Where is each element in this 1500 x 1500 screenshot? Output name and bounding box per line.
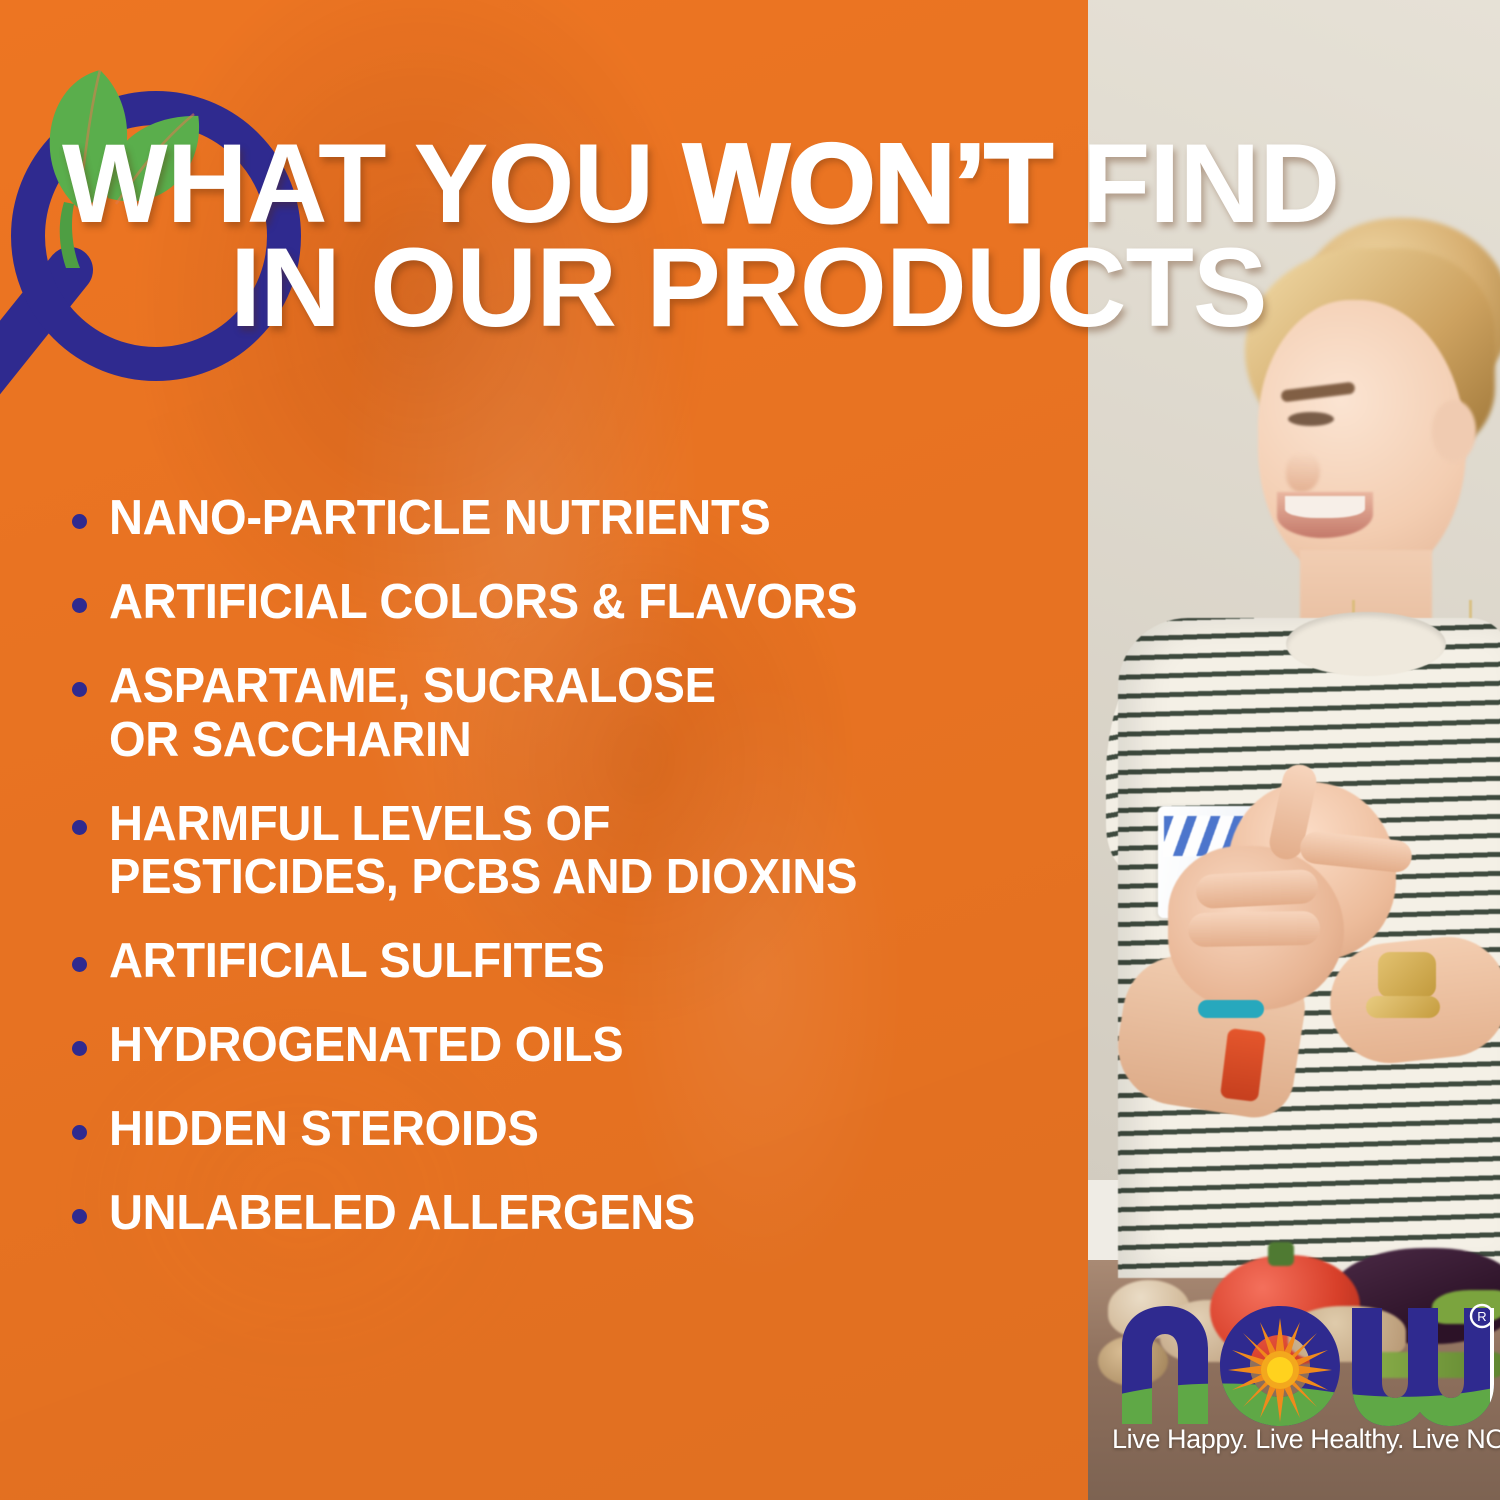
- poster-canvas: WHAT YOU WON’T FIND IN OUR PRODUCTS NANO…: [0, 0, 1500, 1500]
- teal-bracelet: [1198, 1000, 1264, 1018]
- bullet-dot-icon: [72, 820, 87, 835]
- bullet-dot-icon: [72, 682, 87, 697]
- list-item: ASPARTAME, SUCRALOSE OR SACCHARIN: [72, 660, 1082, 768]
- list-item: UNLABELED ALLERGENS: [72, 1187, 1082, 1241]
- wristwatch: [1378, 952, 1436, 998]
- list-item-label: ARTIFICIAL COLORS & FLAVORS: [109, 576, 857, 630]
- shirt-collar: [1286, 612, 1446, 676]
- list-item-label: ARTIFICIAL SULFITES: [109, 935, 604, 989]
- list-item: NANO-PARTICLE NUTRIENTS: [72, 492, 1082, 546]
- list-item-label: UNLABELED ALLERGENS: [109, 1187, 695, 1241]
- finger: [1195, 869, 1319, 909]
- list-item-label: ASPARTAME, SUCRALOSE OR SACCHARIN: [109, 660, 716, 768]
- list-item: HARMFUL LEVELS OF PESTICIDES, PCBS AND D…: [72, 798, 1082, 906]
- bullet-dot-icon: [72, 1041, 87, 1056]
- list-item-label: NANO-PARTICLE NUTRIENTS: [109, 492, 771, 546]
- brand-tagline: Live Happy. Live Healthy. Live NOW.: [1112, 1424, 1482, 1455]
- teeth: [1285, 496, 1365, 518]
- list-item-label: HIDDEN STEROIDS: [109, 1103, 539, 1157]
- pepper-stem: [1268, 1242, 1294, 1266]
- bullet-dot-icon: [72, 1125, 87, 1140]
- eye: [1288, 412, 1334, 426]
- headline-line-1: WHAT YOU WON’T FIND: [62, 132, 1462, 236]
- finger: [1188, 911, 1321, 947]
- gold-bangle: [1366, 996, 1440, 1018]
- list-item: HYDROGENATED OILS: [72, 1019, 1082, 1073]
- ear: [1432, 400, 1476, 462]
- bullet-dot-icon: [72, 957, 87, 972]
- bullet-dot-icon: [72, 514, 87, 529]
- list-item: ARTIFICIAL SULFITES: [72, 935, 1082, 989]
- page-title: WHAT YOU WON’T FIND IN OUR PRODUCTS: [62, 132, 1462, 340]
- list-item-label: HYDROGENATED OILS: [109, 1019, 623, 1073]
- headline-line-2: IN OUR PRODUCTS: [62, 236, 1462, 340]
- svg-text:R: R: [1477, 1309, 1486, 1324]
- exclusion-list: NANO-PARTICLE NUTRIENTS ARTIFICIAL COLOR…: [72, 492, 1082, 1271]
- list-item: ARTIFICIAL COLORS & FLAVORS: [72, 576, 1082, 630]
- list-item-label: HARMFUL LEVELS OF PESTICIDES, PCBS AND D…: [109, 798, 857, 906]
- sunburst-icon: [1228, 1318, 1332, 1422]
- bullet-dot-icon: [72, 1209, 87, 1224]
- bullet-dot-icon: [72, 598, 87, 613]
- list-item: HIDDEN STEROIDS: [72, 1103, 1082, 1157]
